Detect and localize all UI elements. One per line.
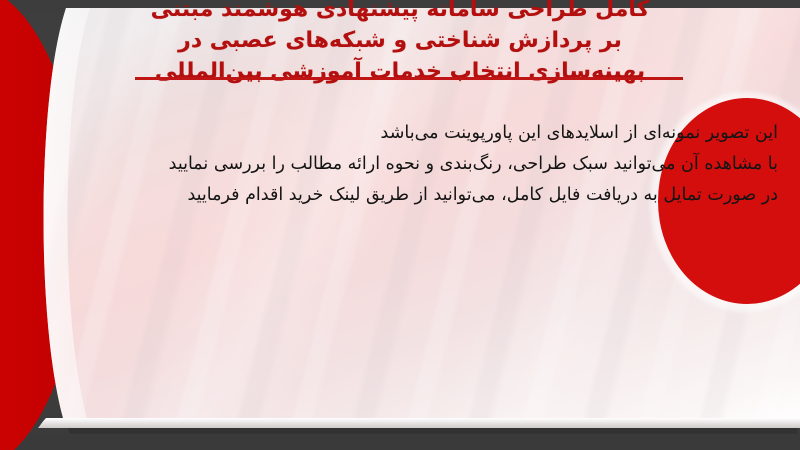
body-line-3: در صورت تمایل به دریافت فایل کامل، می‌تو… [22, 180, 778, 211]
title-line-1: کامل طراحی سامانه پیشنهادی هوشمند مبتنی [0, 0, 800, 25]
title-line-3: بهینه‌سازی انتخاب خدمات آموزشی بین‌الملل… [0, 56, 800, 87]
body-line-1: این تصویر نمونه‌ای از اسلایدهای این پاور… [22, 118, 778, 149]
slide-title: کامل طراحی سامانه پیشنهادی هوشمند مبتنی … [0, 0, 800, 87]
title-line-2: بر پردازش شناختی و شبکه‌های عصبی در [0, 25, 800, 56]
slide-content: کامل طراحی سامانه پیشنهادی هوشمند مبتنی … [0, 0, 800, 450]
body-line-2: با مشاهده آن می‌توانید سبک طراحی، رنگ‌بن… [22, 149, 778, 180]
horizontal-red-rule [135, 77, 683, 80]
slide-body-text: این تصویر نمونه‌ای از اسلایدهای این پاور… [22, 118, 778, 211]
presentation-slide: کامل طراحی سامانه پیشنهادی هوشمند مبتنی … [0, 0, 800, 450]
